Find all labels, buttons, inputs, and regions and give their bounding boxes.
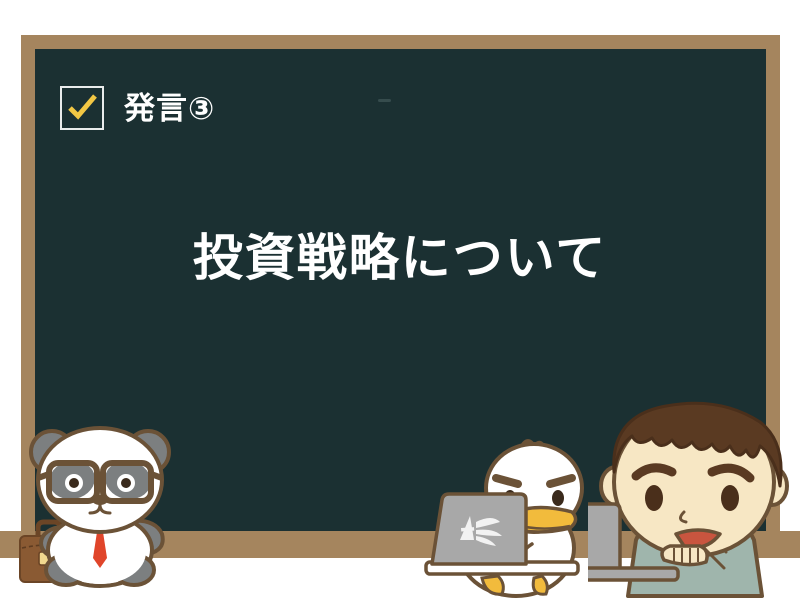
page-title: 投資戦略について (0, 228, 800, 288)
header-row: 発言③ (60, 86, 215, 130)
header-label: 発言③ (124, 93, 215, 124)
checkmark-icon (62, 88, 102, 128)
slide-canvas: 発言③ 投資戦略について (0, 0, 800, 600)
chalk-smudge-mark (378, 99, 391, 102)
man-character (588, 400, 800, 600)
laptop-icon (432, 494, 526, 564)
panda-character (8, 418, 198, 600)
duck-character (424, 436, 604, 600)
checkbox-checked[interactable] (60, 86, 104, 130)
